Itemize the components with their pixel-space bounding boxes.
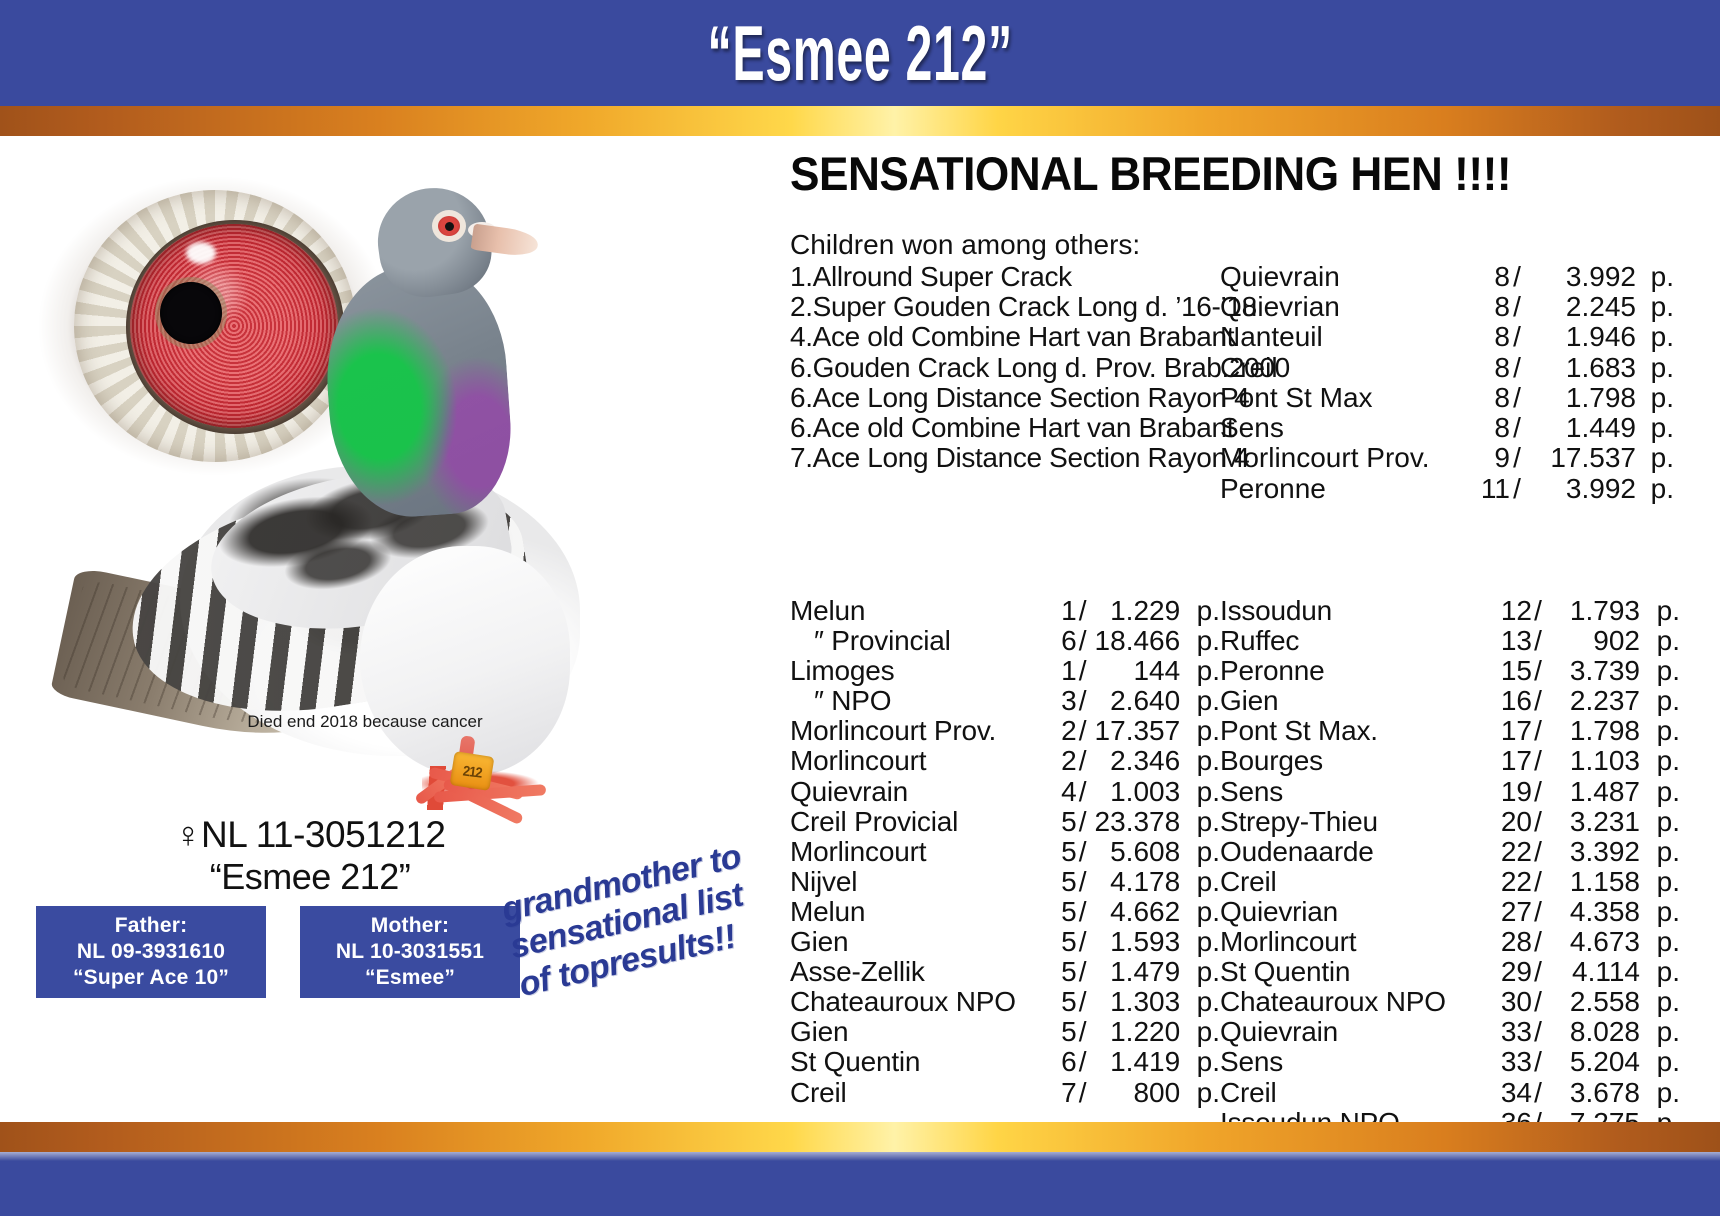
result-row: ″ NPO3/2.640p.	[790, 686, 1220, 716]
achievement-race: Morlincourt Prov.	[1220, 443, 1458, 473]
achievement-row: 2.Super Gouden Crack Long d. ’16-’18Quie…	[790, 292, 1690, 322]
result-race: Asse-Zellik	[790, 957, 1035, 987]
result-race: Quievrain	[1220, 1017, 1486, 1047]
result-separator: /	[1532, 957, 1544, 987]
result-row: Peronne15/3.739p.	[1220, 656, 1690, 686]
result-rank: 3	[1035, 686, 1077, 716]
result-rank: 17	[1486, 746, 1532, 776]
result-total: 1.103	[1544, 746, 1640, 776]
result-row: Creil7/800p.	[790, 1078, 1220, 1108]
result-row: Morlincourt28/4.673p.	[1220, 927, 1690, 957]
achievement-unit: p.	[1636, 443, 1674, 473]
mother-box: Mother: NL 10-3031551 “Esmee”	[300, 906, 520, 998]
result-unit: p.	[1180, 686, 1220, 716]
result-unit: p.	[1180, 656, 1220, 686]
achievement-separator: /	[1510, 322, 1524, 352]
result-race: St Quentin	[790, 1047, 1035, 1077]
footer-band-highlight	[0, 1152, 1720, 1161]
result-unit: p.	[1180, 1047, 1220, 1077]
panel-title: SENSATIONAL BREEDING HEN !!!!	[790, 146, 1636, 201]
achievement-rank: 9	[1458, 443, 1510, 473]
result-row: Asse-Zellik5/1.479p.	[790, 957, 1220, 987]
pigeon-photo: 212	[60, 166, 720, 866]
result-unit: p.	[1640, 927, 1680, 957]
result-unit: p.	[1180, 867, 1220, 897]
result-unit: p.	[1640, 716, 1680, 746]
result-total: 144	[1089, 656, 1181, 686]
result-rank: 5	[1035, 987, 1077, 1017]
result-rank: 6	[1035, 626, 1077, 656]
result-rank: 27	[1486, 897, 1532, 927]
achievement-title: 6.Gouden Crack Long d. Prov. Brab.2000	[790, 353, 1220, 383]
achievement-unit: p.	[1636, 353, 1674, 383]
achievement-title	[790, 474, 1220, 504]
result-unit: p.	[1180, 957, 1220, 987]
result-separator: /	[1532, 867, 1544, 897]
result-total: 1.003	[1089, 777, 1181, 807]
result-race: Creil Provicial	[790, 807, 1035, 837]
result-rank: 33	[1486, 1047, 1532, 1077]
result-row: Creil22/1.158p.	[1220, 867, 1690, 897]
result-total: 1.798	[1544, 716, 1640, 746]
achievement-race: Peronne	[1220, 474, 1458, 504]
result-total: 5.204	[1544, 1047, 1640, 1077]
result-race: Bourges	[1220, 746, 1486, 776]
result-row: ″ Provincial6/18.466p.	[790, 626, 1220, 656]
achievement-row: 6.Ace old Combine Hart van BrabantSens8/…	[790, 413, 1690, 443]
result-separator: /	[1077, 656, 1089, 686]
father-box: Father: NL 09-3931610 “Super Ace 10”	[36, 906, 266, 998]
result-race: Chateauroux NPO	[790, 987, 1035, 1017]
achievement-rank: 8	[1458, 292, 1510, 322]
result-rank: 5	[1035, 837, 1077, 867]
achievement-rank: 8	[1458, 413, 1510, 443]
result-row: Pont St Max.17/1.798p.	[1220, 716, 1690, 746]
result-unit: p.	[1180, 716, 1220, 746]
result-rank: 4	[1035, 777, 1077, 807]
result-race: Gien	[790, 1017, 1035, 1047]
result-row: Oudenaarde22/3.392p.	[1220, 837, 1690, 867]
achievement-separator: /	[1510, 292, 1524, 322]
result-rank: 7	[1035, 1078, 1077, 1108]
result-row: Morlincourt5/5.608p.	[790, 837, 1220, 867]
result-separator: /	[1532, 987, 1544, 1017]
result-unit: p.	[1640, 987, 1680, 1017]
achievement-total: 3.992	[1524, 262, 1636, 292]
result-total: 2.640	[1089, 686, 1181, 716]
result-row: Sens19/1.487p.	[1220, 777, 1690, 807]
result-race: Morlincourt Prov.	[790, 716, 1035, 746]
result-separator: /	[1532, 716, 1544, 746]
result-separator: /	[1077, 927, 1089, 957]
leg-ring-band: 212	[450, 751, 495, 791]
result-rank: 33	[1486, 1017, 1532, 1047]
result-row: Quievrian27/4.358p.	[1220, 897, 1690, 927]
result-unit: p.	[1640, 626, 1680, 656]
result-unit: p.	[1180, 746, 1220, 776]
content-canvas: 212 Died end 2018 because cancer ♀NL 11-…	[0, 136, 1720, 1122]
achievement-title: 7.Ace Long Distance Section Rayon 4	[790, 443, 1220, 473]
result-total: 1.793	[1544, 596, 1640, 626]
result-total: 8.028	[1544, 1017, 1640, 1047]
result-rank: 5	[1035, 927, 1077, 957]
result-row: Bourges17/1.103p.	[1220, 746, 1690, 776]
result-row: Ruffec13/902p.	[1220, 626, 1690, 656]
result-total: 3.678	[1544, 1078, 1640, 1108]
result-total: 1.419	[1089, 1047, 1181, 1077]
result-rank: 28	[1486, 927, 1532, 957]
female-symbol-icon: ♀	[175, 814, 202, 855]
result-race: Limoges	[790, 656, 1035, 686]
leg-ring-band-number: 212	[462, 762, 483, 781]
pedigree-name: “Esmee 212”	[100, 856, 520, 897]
achievement-separator: /	[1510, 413, 1524, 443]
pedigree-identity: ♀NL 11-3051212 “Esmee 212”	[100, 814, 520, 897]
achievement-title: 6.Ace old Combine Hart van Brabant	[790, 413, 1220, 443]
achievement-total: 1.449	[1524, 413, 1636, 443]
result-rank: 2	[1035, 746, 1077, 776]
result-unit: p.	[1180, 987, 1220, 1017]
result-row: Chateauroux NPO5/1.303p.	[790, 987, 1220, 1017]
result-unit: p.	[1640, 656, 1680, 686]
result-unit: p.	[1180, 837, 1220, 867]
result-separator: /	[1532, 1047, 1544, 1077]
achievement-race: Nanteuil	[1220, 322, 1458, 352]
result-race: St Quentin	[1220, 957, 1486, 987]
result-unit: p.	[1180, 596, 1220, 626]
header-band: “Esmee 212”	[0, 0, 1720, 106]
result-separator: /	[1532, 1017, 1544, 1047]
result-separator: /	[1532, 686, 1544, 716]
result-separator: /	[1532, 837, 1544, 867]
achievement-unit: p.	[1636, 474, 1674, 504]
died-note: Died end 2018 because cancer	[225, 712, 505, 732]
result-unit: p.	[1180, 897, 1220, 927]
result-race: ″ NPO	[790, 686, 1035, 716]
result-separator: /	[1077, 716, 1089, 746]
result-total: 3.739	[1544, 656, 1640, 686]
mother-name: “Esmee”	[365, 965, 455, 991]
result-rank: 19	[1486, 777, 1532, 807]
result-unit: p.	[1180, 1078, 1220, 1108]
achievement-row: 1.Allround Super CrackQuievrain8/3.992p.	[790, 262, 1690, 292]
result-race: Melun	[790, 596, 1035, 626]
achievement-title: 6.Ace Long Distance Section Rayon 4	[790, 383, 1220, 413]
result-unit: p.	[1640, 596, 1680, 626]
result-separator: /	[1077, 1017, 1089, 1047]
result-total: 1.479	[1089, 957, 1181, 987]
result-race: Quievrian	[1220, 897, 1486, 927]
results-lists: Melun1/1.229p.″ Provincial6/18.466p.Limo…	[790, 596, 1690, 1138]
achievement-separator: /	[1510, 262, 1524, 292]
result-total: 1.229	[1089, 596, 1181, 626]
result-rank: 15	[1486, 656, 1532, 686]
achievements-list: 1.Allround Super CrackQuievrain8/3.992p.…	[790, 262, 1690, 504]
result-row: Melun5/4.662p.	[790, 897, 1220, 927]
achievement-rank: 8	[1458, 262, 1510, 292]
result-rank: 6	[1035, 1047, 1077, 1077]
achievement-total: 1.946	[1524, 322, 1636, 352]
result-total: 4.662	[1089, 897, 1181, 927]
results-left-column: Melun1/1.229p.″ Provincial6/18.466p.Limo…	[790, 596, 1220, 1138]
result-total: 1.158	[1544, 867, 1640, 897]
gold-divider-top	[0, 106, 1720, 136]
mother-label: Mother:	[371, 913, 449, 939]
result-unit: p.	[1640, 1078, 1680, 1108]
result-unit: p.	[1640, 957, 1680, 987]
pedigree-ring-line: ♀NL 11-3051212	[100, 814, 520, 856]
result-total: 18.466	[1089, 626, 1181, 656]
result-rank: 34	[1486, 1078, 1532, 1108]
result-unit: p.	[1180, 807, 1220, 837]
result-rank: 29	[1486, 957, 1532, 987]
achievement-total: 2.245	[1524, 292, 1636, 322]
father-name: “Super Ace 10”	[73, 965, 229, 991]
result-race: Strepy-Thieu	[1220, 807, 1486, 837]
achievement-race: Sens	[1220, 413, 1458, 443]
achievement-unit: p.	[1636, 292, 1674, 322]
result-separator: /	[1077, 837, 1089, 867]
result-rank: 13	[1486, 626, 1532, 656]
achievement-rank: 8	[1458, 353, 1510, 383]
result-separator: /	[1077, 807, 1089, 837]
result-total: 2.558	[1544, 987, 1640, 1017]
achievement-separator: /	[1510, 383, 1524, 413]
result-separator: /	[1532, 1078, 1544, 1108]
result-total: 2.346	[1089, 746, 1181, 776]
result-separator: /	[1077, 626, 1089, 656]
result-race: Ruffec	[1220, 626, 1486, 656]
result-row: Morlincourt2/2.346p.	[790, 746, 1220, 776]
result-separator: /	[1532, 777, 1544, 807]
achievement-unit: p.	[1636, 322, 1674, 352]
result-rank: 22	[1486, 867, 1532, 897]
result-race: Morlincourt	[1220, 927, 1486, 957]
result-separator: /	[1532, 807, 1544, 837]
result-row: Strepy-Thieu20/3.231p.	[1220, 807, 1690, 837]
result-total: 5.608	[1089, 837, 1181, 867]
result-separator: /	[1532, 656, 1544, 686]
result-row: Sens33/5.204p.	[1220, 1047, 1690, 1077]
result-separator: /	[1532, 927, 1544, 957]
achievement-total: 17.537	[1524, 443, 1636, 473]
page-title: “Esmee 212”	[707, 14, 1012, 92]
achievement-title: 1.Allround Super Crack	[790, 262, 1220, 292]
gold-divider-bottom	[0, 1122, 1720, 1152]
achievement-row: 4.Ace old Combine Hart van BrabantNanteu…	[790, 322, 1690, 352]
result-total: 1.303	[1089, 987, 1181, 1017]
pedigree-ring-number: NL 11-3051212	[201, 814, 445, 855]
achievement-row: 7.Ace Long Distance Section Rayon 4Morli…	[790, 443, 1690, 473]
achievement-row: 6.Ace Long Distance Section Rayon 4Pont …	[790, 383, 1690, 413]
result-total: 1.487	[1544, 777, 1640, 807]
result-race: Melun	[790, 897, 1035, 927]
footer-band	[0, 1152, 1720, 1216]
result-race: Creil	[1220, 1078, 1486, 1108]
result-unit: p.	[1640, 867, 1680, 897]
result-separator: /	[1077, 897, 1089, 927]
result-total: 902	[1544, 626, 1640, 656]
result-rank: 30	[1486, 987, 1532, 1017]
result-row: Quievrain33/8.028p.	[1220, 1017, 1690, 1047]
result-unit: p.	[1640, 777, 1680, 807]
result-race: Gien	[790, 927, 1035, 957]
achievement-row: Peronne11/3.992p.	[790, 474, 1690, 504]
achievement-title: 2.Super Gouden Crack Long d. ’16-’18	[790, 292, 1220, 322]
result-separator: /	[1532, 746, 1544, 776]
result-unit: p.	[1180, 626, 1220, 656]
pigeon-eye-pupil	[445, 222, 454, 231]
achievements-panel: SENSATIONAL BREEDING HEN !!!! Children w…	[790, 136, 1690, 504]
achievement-separator: /	[1510, 443, 1524, 473]
result-separator: /	[1532, 626, 1544, 656]
result-rank: 5	[1035, 1017, 1077, 1047]
result-rank: 1	[1035, 656, 1077, 686]
result-rank: 16	[1486, 686, 1532, 716]
result-separator: /	[1077, 867, 1089, 897]
result-unit: p.	[1640, 807, 1680, 837]
result-row: Gien5/1.220p.	[790, 1017, 1220, 1047]
result-race: Pont St Max.	[1220, 716, 1486, 746]
father-label: Father:	[115, 913, 188, 939]
result-separator: /	[1077, 1047, 1089, 1077]
result-unit: p.	[1640, 837, 1680, 867]
result-race: Issoudun	[1220, 596, 1486, 626]
result-total: 3.231	[1544, 807, 1640, 837]
result-race: Sens	[1220, 777, 1486, 807]
achievement-unit: p.	[1636, 383, 1674, 413]
result-race: Oudenaarde	[1220, 837, 1486, 867]
result-race: Gien	[1220, 686, 1486, 716]
result-total: 2.237	[1544, 686, 1640, 716]
result-rank: 5	[1035, 807, 1077, 837]
achievement-race: Quievrain	[1220, 262, 1458, 292]
result-race: Morlincourt	[790, 746, 1035, 776]
result-race: Chateauroux NPO	[1220, 987, 1486, 1017]
result-rank: 5	[1035, 897, 1077, 927]
result-row: Gien16/2.237p.	[1220, 686, 1690, 716]
result-total: 4.358	[1544, 897, 1640, 927]
result-rank: 12	[1486, 596, 1532, 626]
results-right-column: Issoudun12/1.793p.Ruffec13/902p.Peronne1…	[1220, 596, 1690, 1138]
result-separator: /	[1532, 596, 1544, 626]
result-separator: /	[1077, 596, 1089, 626]
result-row: St Quentin6/1.419p.	[790, 1047, 1220, 1077]
result-unit: p.	[1180, 927, 1220, 957]
result-row: Nijvel5/4.178p.	[790, 867, 1220, 897]
result-separator: /	[1077, 746, 1089, 776]
achievement-separator: /	[1510, 474, 1524, 504]
result-total: 23.378	[1089, 807, 1181, 837]
achievement-unit: p.	[1636, 413, 1674, 443]
result-race: Sens	[1220, 1047, 1486, 1077]
result-separator: /	[1077, 987, 1089, 1017]
result-total: 4.114	[1544, 957, 1640, 987]
result-race: Quievrain	[790, 777, 1035, 807]
achievement-rank: 8	[1458, 383, 1510, 413]
result-separator: /	[1532, 897, 1544, 927]
result-unit: p.	[1640, 746, 1680, 776]
mother-ring: NL 10-3031551	[336, 939, 484, 965]
result-race: ″ Provincial	[790, 626, 1035, 656]
result-rank: 17	[1486, 716, 1532, 746]
result-row: Chateauroux NPO30/2.558p.	[1220, 987, 1690, 1017]
result-separator: /	[1077, 777, 1089, 807]
achievement-separator: /	[1510, 353, 1524, 383]
result-unit: p.	[1640, 1017, 1680, 1047]
result-unit: p.	[1180, 1017, 1220, 1047]
result-row: Quievrain4/1.003p.	[790, 777, 1220, 807]
result-row: Melun1/1.229p.	[790, 596, 1220, 626]
result-row: St Quentin29/4.114p.	[1220, 957, 1690, 987]
result-rank: 2	[1035, 716, 1077, 746]
achievement-title: 4.Ace old Combine Hart van Brabant	[790, 322, 1220, 352]
achievement-total: 3.992	[1524, 474, 1636, 504]
result-unit: p.	[1640, 897, 1680, 927]
result-unit: p.	[1180, 777, 1220, 807]
result-separator: /	[1077, 957, 1089, 987]
result-separator: /	[1077, 1078, 1089, 1108]
result-rank: 5	[1035, 867, 1077, 897]
result-row: Creil Provicial5/23.378p.	[790, 807, 1220, 837]
achievement-race: Creil	[1220, 353, 1458, 383]
achievement-unit: p.	[1636, 262, 1674, 292]
achievement-rank: 8	[1458, 322, 1510, 352]
achievement-total: 1.683	[1524, 353, 1636, 383]
result-total: 17.357	[1089, 716, 1181, 746]
father-ring: NL 09-3931610	[77, 939, 225, 965]
result-unit: p.	[1640, 1047, 1680, 1077]
result-race: Morlincourt	[790, 837, 1035, 867]
result-total: 4.178	[1089, 867, 1181, 897]
result-rank: 1	[1035, 596, 1077, 626]
result-total: 800	[1089, 1078, 1181, 1108]
achievement-rank: 11	[1458, 474, 1510, 504]
result-separator: /	[1077, 686, 1089, 716]
result-rank: 22	[1486, 837, 1532, 867]
result-unit: p.	[1640, 686, 1680, 716]
result-race: Nijvel	[790, 867, 1035, 897]
result-race: Creil	[1220, 867, 1486, 897]
result-total: 1.220	[1089, 1017, 1181, 1047]
achievement-race: Quievrian	[1220, 292, 1458, 322]
result-row: Gien5/1.593p.	[790, 927, 1220, 957]
result-row: Creil34/3.678p.	[1220, 1078, 1690, 1108]
achievement-race: Pont St Max	[1220, 383, 1458, 413]
result-rank: 20	[1486, 807, 1532, 837]
result-rank: 5	[1035, 957, 1077, 987]
result-total: 3.392	[1544, 837, 1640, 867]
result-row: Issoudun12/1.793p.	[1220, 596, 1690, 626]
achievement-row: 6.Gouden Crack Long d. Prov. Brab.2000Cr…	[790, 353, 1690, 383]
result-row: Limoges1/144p.	[790, 656, 1220, 686]
result-race: Peronne	[1220, 656, 1486, 686]
achievement-total: 1.798	[1524, 383, 1636, 413]
result-total: 1.593	[1089, 927, 1181, 957]
result-total: 4.673	[1544, 927, 1640, 957]
result-race: Creil	[790, 1078, 1035, 1108]
result-row: Morlincourt Prov.2/17.357p.	[790, 716, 1220, 746]
children-won-label: Children won among others:	[790, 229, 1690, 261]
